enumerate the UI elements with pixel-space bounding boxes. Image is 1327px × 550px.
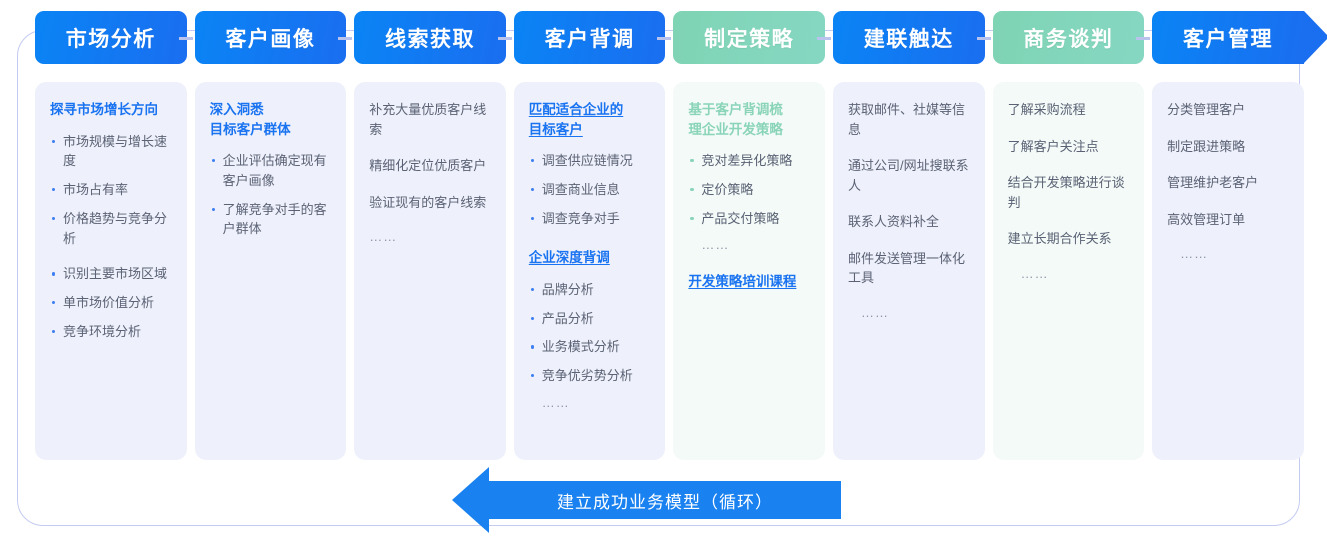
stage-tab-label: 商务谈判 [1023,23,1113,53]
stage-card-lead-acquisition: 补充大量优质客户线索 精细化定位优质客户 验证现有的客户线索 …… [354,82,506,460]
stage-column-lead-acquisition: 线索获取 补充大量优质客户线索 精细化定位优质客户 验证现有的客户线索 …… [350,11,510,460]
stage-column-negotiation: 商务谈判 了解采购流程 了解客户关注点 结合开发策略进行谈判 建立长期合作关系 … [989,11,1149,460]
card-item-list: 企业评估确定现有客户画像 了解竞争对手的客户群体 [210,151,332,239]
list-item: 验证现有的客户线索 [369,193,491,213]
list-item: 调查竞争对手 [529,209,651,229]
list-item: 竞对差异化策略 [688,151,810,171]
list-item: 分类管理客户 [1167,100,1289,120]
card-item-list: 补充大量优质客户线索 精细化定位优质客户 验证现有的客户线索 [369,100,491,212]
list-item: 识别主要市场区域 [50,264,172,284]
stage-column-market-analysis: 市场分析 探寻市场增长方向 市场规模与增长速度 市场占有率 价格趋势与竞争分析 … [31,11,191,460]
list-item: 制定跟进策略 [1167,137,1289,157]
list-item: 通过公司/网址搜联系人 [848,156,970,195]
card-heading-line1: 基于客户背调梳 [688,102,783,117]
card-heading-line1: 深入洞悉 [210,102,264,117]
list-item: 了解采购流程 [1008,100,1130,120]
list-item: 定价策略 [688,180,810,200]
stage-column-strategy: 制定策略 基于客户背调梳 理企业开发策略 竞对差异化策略 定价策略 产品交付策略… [669,11,829,460]
stage-card-customer-profile: 深入洞悉 目标客户群体 企业评估确定现有客户画像 了解竞争对手的客户群体 [195,82,347,460]
list-item: 价格趋势与竞争分析 [50,209,172,249]
list-item: 邮件发送管理一体化工具 [848,249,970,288]
ellipsis: …… [529,395,651,410]
stage-tab-label: 市场分析 [66,23,156,53]
list-item: 产品分析 [529,309,651,329]
card-heading-line1: 匹配适合企业的 [529,102,624,117]
stage-tab-customer-management[interactable]: 客户管理 [1152,11,1304,64]
card-heading[interactable]: 匹配适合企业的 目标客户 [529,100,651,139]
card-item-list: 了解采购流程 了解客户关注点 结合开发策略进行谈判 建立长期合作关系 [1008,100,1130,249]
tab-connector [977,37,991,40]
card-item-list: 分类管理客户 制定跟进策略 管理维护老客户 高效管理订单 [1167,100,1289,229]
list-item: 业务模式分析 [529,337,651,357]
stage-tab-label: 制定策略 [704,23,794,53]
list-item: 联系人资料补全 [848,212,970,232]
card-item-list: 市场规模与增长速度 市场占有率 价格趋势与竞争分析 识别主要市场区域 单市场价值… [50,132,172,342]
list-item: 高效管理订单 [1167,210,1289,230]
loop-back-arrow-banner: 建立成功业务模型（循环） [489,481,841,519]
list-item: 市场占有率 [50,180,172,200]
list-item: 调查供应链情况 [529,151,651,171]
card-heading-secondary[interactable]: 企业深度背调 [529,248,651,268]
card-heading: 基于客户背调梳 理企业开发策略 [688,100,810,139]
list-item: 企业评估确定现有客户画像 [210,151,332,191]
list-item: 品牌分析 [529,280,651,300]
stage-column-outreach: 建联触达 获取邮件、社媒等信息 通过公司/网址搜联系人 联系人资料补全 邮件发送… [829,11,989,460]
list-item: 产品交付策略 [688,209,810,229]
list-item: 获取邮件、社媒等信息 [848,100,970,139]
list-item: 补充大量优质客户线索 [369,100,491,139]
ellipsis: …… [369,229,491,244]
card-item-list-secondary: 品牌分析 产品分析 业务模式分析 竞争优劣势分析 [529,280,651,386]
list-item: 单市场价值分析 [50,293,172,313]
card-item-list: 竞对差异化策略 定价策略 产品交付策略 [688,151,810,228]
stage-tab-background-check[interactable]: 客户背调 [514,11,666,64]
stage-column-customer-profile: 客户画像 深入洞悉 目标客户群体 企业评估确定现有客户画像 了解竞争对手的客户群… [191,11,351,460]
card-heading-secondary[interactable]: 开发策略培训课程 [688,272,810,292]
list-item: 市场规模与增长速度 [50,132,172,172]
list-item: 建立长期合作关系 [1008,229,1130,249]
list-item: 竞争环境分析 [50,322,172,342]
stage-card-customer-management: 分类管理客户 制定跟进策略 管理维护老客户 高效管理订单 …… [1152,82,1304,460]
list-item: 了解竞争对手的客户群体 [210,200,332,240]
ellipsis: …… [848,305,970,320]
stage-tab-label: 线索获取 [385,23,475,53]
list-item: 竞争优劣势分析 [529,366,651,386]
stage-tab-negotiation[interactable]: 商务谈判 [993,11,1145,64]
tab-connector [817,37,831,40]
tab-connector [1136,37,1150,40]
stage-tab-label: 建联触达 [864,23,954,53]
stage-tab-label: 客户背调 [545,23,635,53]
stage-column-background-check: 客户背调 匹配适合企业的 目标客户 调查供应链情况 调查商业信息 调查竞争对手 … [510,11,670,460]
card-heading-line2: 目标客户群体 [210,122,291,137]
stage-tab-market-analysis[interactable]: 市场分析 [35,11,187,64]
tab-connector [657,37,671,40]
ellipsis: …… [688,237,810,252]
ellipsis: …… [1008,266,1130,281]
stage-tab-label: 客户管理 [1183,23,1273,53]
stage-card-market-analysis: 探寻市场增长方向 市场规模与增长速度 市场占有率 价格趋势与竞争分析 识别主要市… [35,82,187,460]
list-item: 管理维护老客户 [1167,173,1289,193]
list-item: 精细化定位优质客户 [369,156,491,176]
stage-tab-customer-profile[interactable]: 客户画像 [195,11,347,64]
stage-tab-label: 客户画像 [225,23,315,53]
stage-tab-outreach[interactable]: 建联触达 [833,11,985,64]
stage-tab-lead-acquisition[interactable]: 线索获取 [354,11,506,64]
stage-card-outreach: 获取邮件、社媒等信息 通过公司/网址搜联系人 联系人资料补全 邮件发送管理一体化… [833,82,985,460]
loop-back-arrow-label: 建立成功业务模型（循环） [557,488,773,513]
card-heading: 探寻市场增长方向 [50,100,172,120]
card-heading-line2: 目标客户 [529,122,583,137]
card-heading-line2: 理企业开发策略 [688,122,783,137]
tab-connector [338,37,352,40]
stage-card-background-check: 匹配适合企业的 目标客户 调查供应链情况 调查商业信息 调查竞争对手 企业深度背… [514,82,666,460]
stage-card-strategy: 基于客户背调梳 理企业开发策略 竞对差异化策略 定价策略 产品交付策略 …… 开… [673,82,825,460]
card-heading: 深入洞悉 目标客户群体 [210,100,332,139]
list-item: 调查商业信息 [529,180,651,200]
ellipsis: …… [1167,246,1289,261]
tab-connector [498,37,512,40]
tab-connector [179,37,193,40]
stage-tab-strategy[interactable]: 制定策略 [673,11,825,64]
list-item: 了解客户关注点 [1008,137,1130,157]
list-item: 结合开发策略进行谈判 [1008,173,1130,212]
stage-column-customer-management: 客户管理 分类管理客户 制定跟进策略 管理维护老客户 高效管理订单 …… [1148,11,1308,460]
card-item-list: 获取邮件、社媒等信息 通过公司/网址搜联系人 联系人资料补全 邮件发送管理一体化… [848,100,970,288]
stage-card-negotiation: 了解采购流程 了解客户关注点 结合开发策略进行谈判 建立长期合作关系 …… [993,82,1145,460]
card-item-list: 调查供应链情况 调查商业信息 调查竞争对手 [529,151,651,228]
stage-row: 市场分析 探寻市场增长方向 市场规模与增长速度 市场占有率 价格趋势与竞争分析 … [31,11,1309,460]
